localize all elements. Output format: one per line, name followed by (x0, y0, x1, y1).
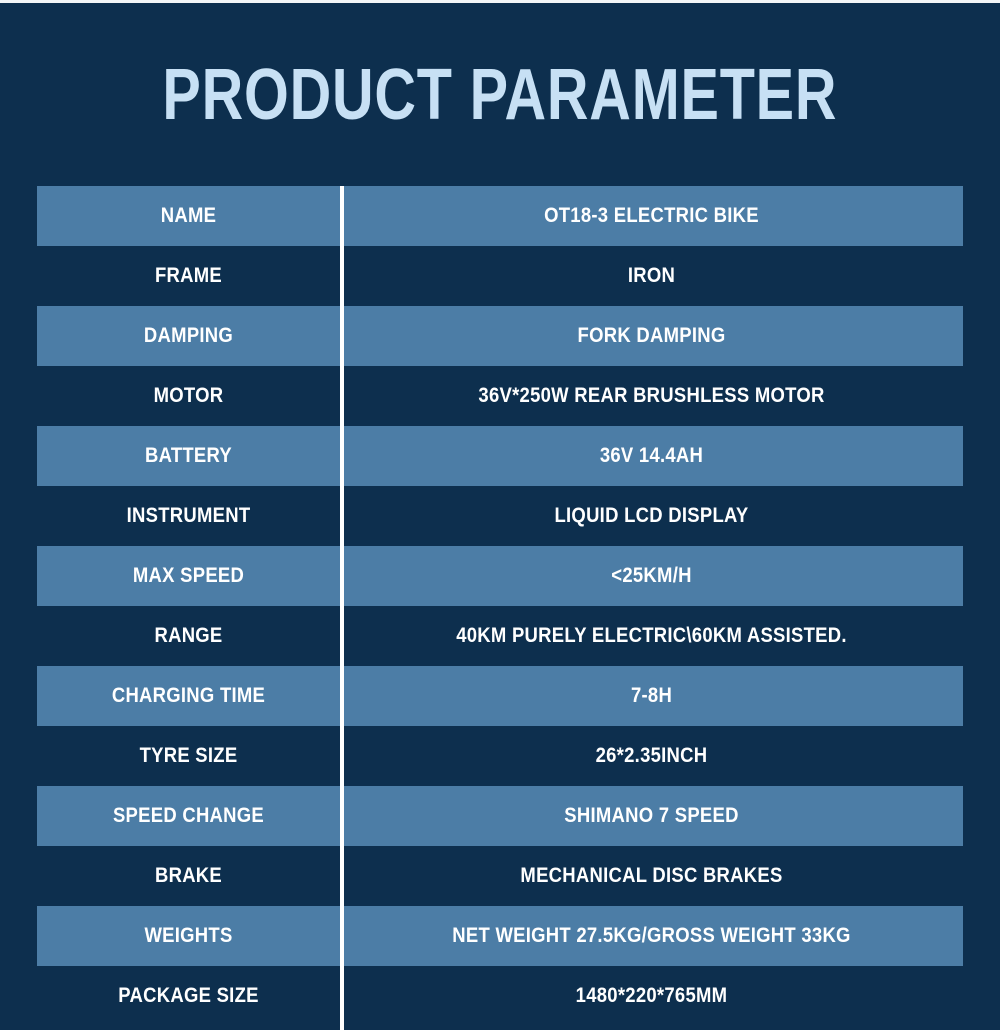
spec-value: 40KM PURELY ELECTRIC\60KM ASSISTED. (377, 606, 925, 666)
page-title: PRODUCT PARAMETER (163, 59, 838, 131)
spec-value: SHIMANO 7 SPEED (377, 786, 925, 846)
spec-value: 36V*250W REAR BRUSHLESS MOTOR (377, 366, 925, 426)
table-row: PACKAGE SIZE1480*220*765MM (37, 966, 963, 1026)
spec-label: SPEED CHANGE (55, 786, 322, 846)
spec-value: IRON (377, 246, 925, 306)
spec-value: LIQUID LCD DISPLAY (377, 486, 925, 546)
spec-label: CHARGING TIME (55, 666, 322, 726)
table-row: DAMPINGFORK DAMPING (37, 306, 963, 366)
table-row: BRAKEMECHANICAL DISC BRAKES (37, 846, 963, 906)
spec-label: WEIGHTS (55, 906, 322, 966)
spec-table: NAMEOT18-3 ELECTRIC BIKEFRAMEIRONDAMPING… (37, 186, 963, 1030)
spec-value: OT18-3 ELECTRIC BIKE (377, 186, 925, 246)
product-parameter-page: PRODUCT PARAMETER NAMEOT18-3 ELECTRIC BI… (0, 0, 1000, 1030)
table-row: MOTOR36V*250W REAR BRUSHLESS MOTOR (37, 366, 963, 426)
spec-label: BRAKE (55, 846, 322, 906)
table-row: RANGE40KM PURELY ELECTRIC\60KM ASSISTED. (37, 606, 963, 666)
table-row: BATTERY36V 14.4AH (37, 426, 963, 486)
spec-value: 7-8H (377, 666, 925, 726)
spec-label: NAME (55, 186, 322, 246)
spec-label: PACKAGE SIZE (55, 966, 322, 1026)
spec-label: DAMPING (55, 306, 322, 366)
spec-value: FORK DAMPING (377, 306, 925, 366)
table-row: CHARGING TIME7-8H (37, 666, 963, 726)
spec-value: 36V 14.4AH (377, 426, 925, 486)
spec-table-body: NAMEOT18-3 ELECTRIC BIKEFRAMEIRONDAMPING… (37, 186, 963, 1026)
spec-value: 26*2.35INCH (377, 726, 925, 786)
title-area: PRODUCT PARAMETER (0, 3, 1000, 186)
spec-value: MECHANICAL DISC BRAKES (377, 846, 925, 906)
spec-label: FRAME (55, 246, 322, 306)
spec-label: RANGE (55, 606, 322, 666)
table-row: SPEED CHANGESHIMANO 7 SPEED (37, 786, 963, 846)
table-row: TYRE SIZE26*2.35INCH (37, 726, 963, 786)
spec-label: TYRE SIZE (55, 726, 322, 786)
table-row: INSTRUMENTLIQUID LCD DISPLAY (37, 486, 963, 546)
spec-label: BATTERY (55, 426, 322, 486)
table-row: WEIGHTSNET WEIGHT 27.5KG/GROSS WEIGHT 33… (37, 906, 963, 966)
column-divider (340, 186, 344, 1030)
spec-value: NET WEIGHT 27.5KG/GROSS WEIGHT 33KG (377, 906, 925, 966)
table-row: FRAMEIRON (37, 246, 963, 306)
spec-label: MAX SPEED (55, 546, 322, 606)
table-row: NAMEOT18-3 ELECTRIC BIKE (37, 186, 963, 246)
table-row: MAX SPEED<25KM/H (37, 546, 963, 606)
spec-value: <25KM/H (377, 546, 925, 606)
spec-value: 1480*220*765MM (377, 966, 925, 1026)
spec-label: INSTRUMENT (55, 486, 322, 546)
spec-label: MOTOR (55, 366, 322, 426)
